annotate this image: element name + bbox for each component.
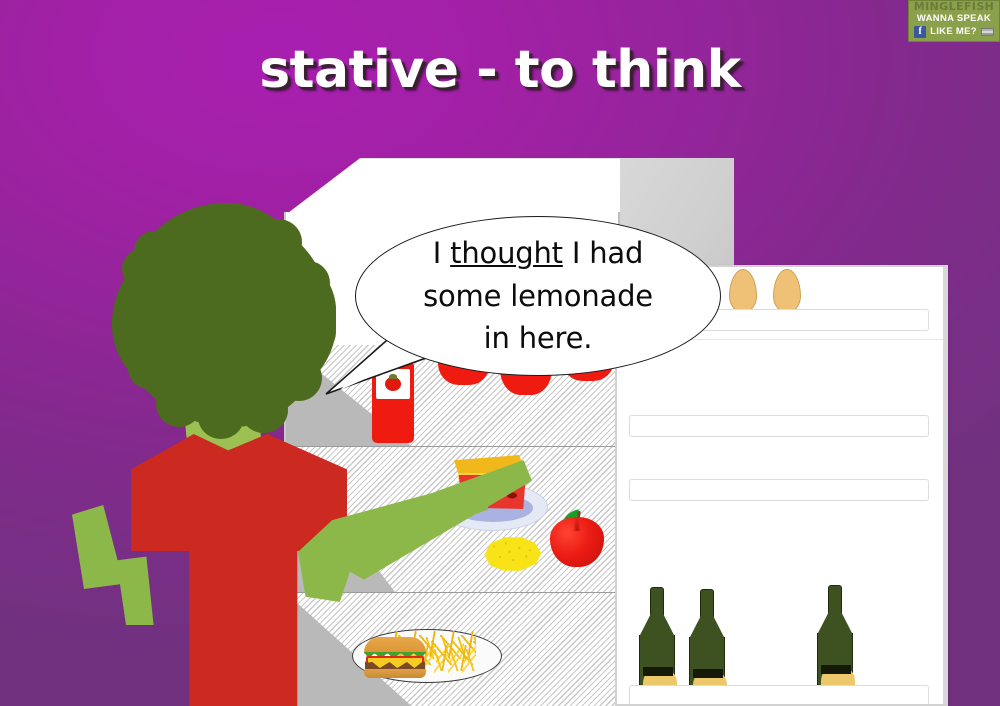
- page-title: stative - to think: [0, 40, 1000, 100]
- bubble-line1-emphasis: thought: [450, 236, 563, 270]
- watermark-brand: MINGLEFISH: [909, 1, 999, 13]
- bubble-line1-after: I had: [563, 236, 643, 270]
- slide-canvas: MINGLEFISH WANNA SPEAK f LIKE ME? stativ…: [0, 0, 1000, 706]
- bubble-line2: some lemonade: [423, 279, 653, 313]
- speech-bubble: I thought I had some lemonade in here.: [355, 216, 721, 376]
- bubble-line1-before: I: [433, 236, 450, 270]
- speech-bubble-text: I thought I had some lemonade in here.: [405, 232, 671, 360]
- bubble-line3: in here.: [484, 321, 593, 355]
- flag-icon: [981, 28, 994, 36]
- watermark-line2: LIKE ME?: [930, 25, 977, 38]
- watermark-logo: MINGLEFISH WANNA SPEAK f LIKE ME?: [908, 0, 1000, 42]
- facebook-icon: f: [914, 26, 926, 38]
- speech-bubble-layer: I thought I had some lemonade in here.: [0, 0, 1000, 706]
- watermark-line2-row: f LIKE ME?: [909, 25, 999, 38]
- watermark-line1: WANNA SPEAK: [909, 13, 999, 25]
